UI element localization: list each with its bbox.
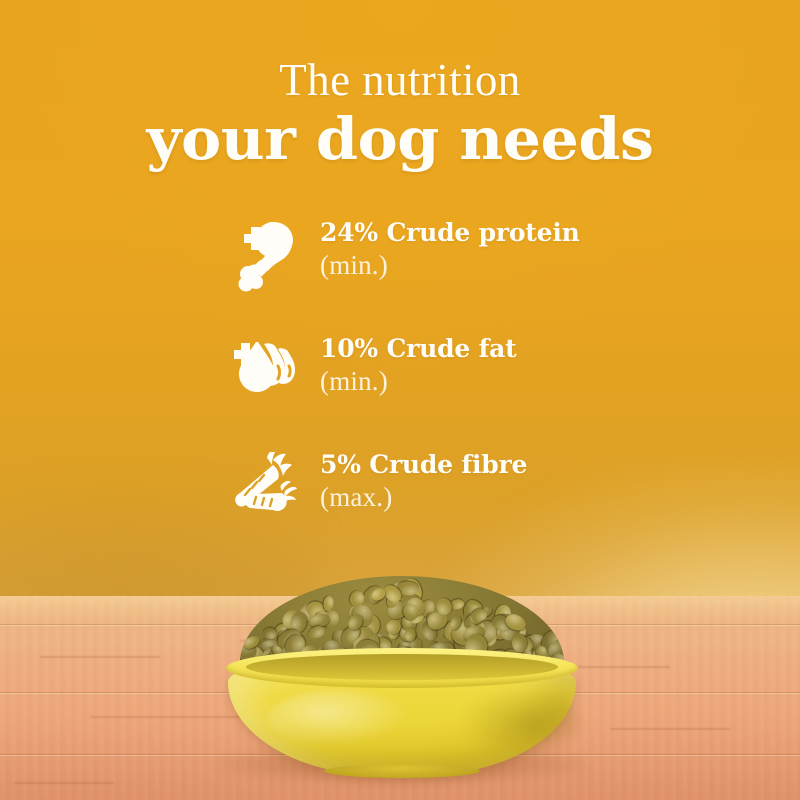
bowl-highlight: [268, 690, 408, 746]
bowl-shading: [460, 686, 580, 758]
nutrition-facts-list: 24% Crude protein (min.): [228, 216, 648, 564]
fact-qualifier: (max.): [320, 482, 527, 513]
bowl-interior: [246, 654, 558, 680]
bowl-base: [324, 764, 480, 778]
page-title: The nutrition your dog needs: [0, 58, 800, 170]
carrots-icon: [228, 448, 302, 518]
fact-value: 24% Crude protein: [320, 218, 580, 247]
list-item: 10% Crude fat (min.): [228, 332, 648, 448]
fact-qualifier: (min.): [320, 366, 517, 397]
fact-text: 24% Crude protein (min.): [302, 216, 580, 281]
dog-food-bowl: [212, 568, 592, 800]
nutrition-infographic: The nutrition your dog needs: [0, 0, 800, 800]
oil-droplets-plus-icon: [228, 332, 302, 404]
drumstick-plus-icon: [228, 216, 302, 292]
headline-line-1: The nutrition: [0, 58, 800, 103]
fact-value: 10% Crude fat: [320, 334, 517, 363]
fact-qualifier: (min.): [320, 250, 580, 281]
fact-text: 5% Crude fibre (max.): [302, 448, 527, 513]
fact-text: 10% Crude fat (min.): [302, 332, 517, 397]
fact-value: 5% Crude fibre: [320, 450, 527, 479]
list-item: 24% Crude protein (min.): [228, 216, 648, 332]
headline-line-2: your dog needs: [0, 109, 800, 170]
list-item: 5% Crude fibre (max.): [228, 448, 648, 564]
